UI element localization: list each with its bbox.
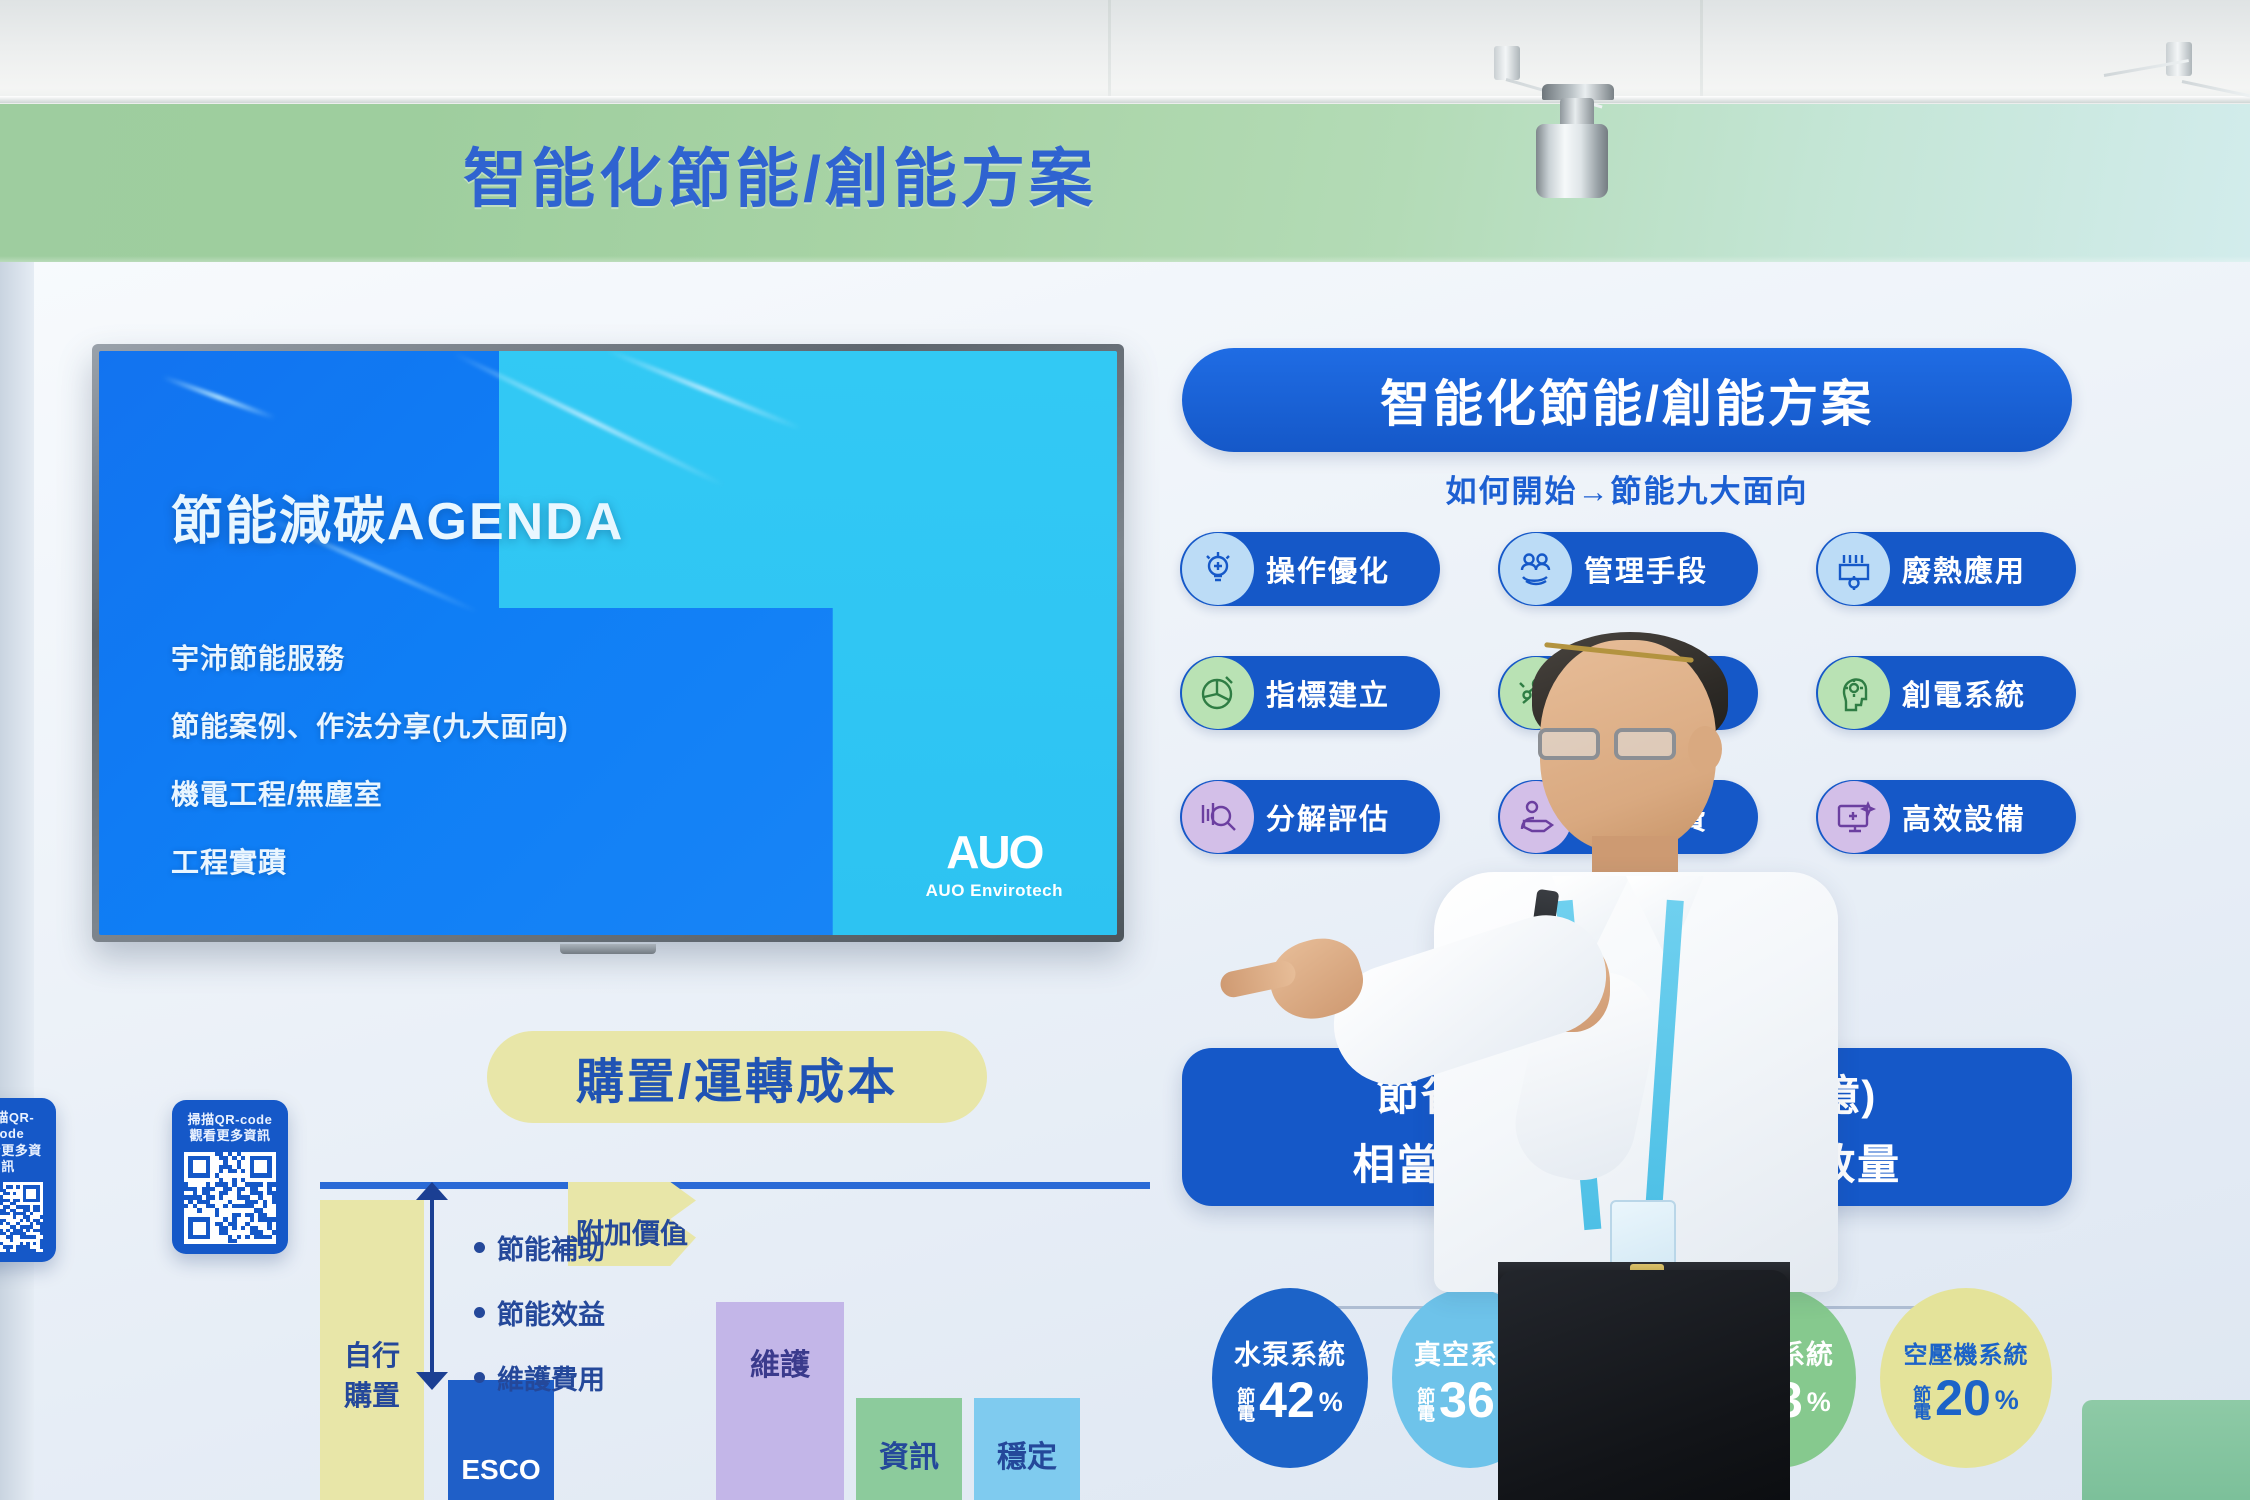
spotlight-arm xyxy=(1494,46,1520,80)
tv-display: 節能減碳AGENDA 宇沛節能服務 節能案例、作法分享(九大面向) 機電工程/無… xyxy=(92,344,1124,942)
qr-card[interactable]: 掃描QR-code觀看更多資訊 xyxy=(0,1098,56,1262)
aspect-chip-2[interactable]: 管理手段 xyxy=(1498,532,1758,606)
cost-panel-title: 購置/運轉成本 xyxy=(487,1031,987,1123)
aspect-chip-label: 廢熱應用 xyxy=(1902,548,2026,590)
exhibition-scene: 智能化節能/創能方案 節能減碳AGENDA 宇沛節能服務 節能案例、作法分享(九… xyxy=(0,0,2250,1500)
slide-bullet: 節能案例、作法分享(九大面向) xyxy=(171,705,569,745)
chart-bullet-list: 節能補助 節能效益 維護費用 xyxy=(474,1228,605,1397)
chart-bar-label: 穩定 xyxy=(974,1440,1080,1476)
ceiling-seam xyxy=(0,96,2250,103)
slide-bullet-list: 宇沛節能服務 節能案例、作法分享(九大面向) 機電工程/無塵室 工程實蹟 xyxy=(171,637,569,881)
chart-bullet: 節能補助 xyxy=(474,1228,605,1267)
bubble-prefix-label: 節電 xyxy=(1913,1387,1931,1421)
slide-title: 節能減碳AGENDA xyxy=(171,479,624,554)
spotlight-head xyxy=(1536,124,1608,198)
factory-icon xyxy=(1818,533,1890,605)
cost-comparison-chart: 自行購置 ESCO 附加價值 維護 資訊 穩定 節能補助 節能效益 維護費用 xyxy=(320,1182,1150,1500)
chart-bar-stability: 穩定 xyxy=(974,1398,1080,1500)
chart-bar-information: 資訊 xyxy=(856,1398,962,1500)
qr-code-image xyxy=(0,1182,43,1252)
aspect-chip-label: 分解評估 xyxy=(1266,796,1390,838)
people-hand-icon xyxy=(1500,533,1572,605)
chart-bar-maintenance: 維護 xyxy=(716,1302,844,1500)
chart-bar-label: 自行購置 xyxy=(320,1334,424,1414)
presenter-person xyxy=(1420,640,1850,1500)
bubble-system-name: 空壓機系統 xyxy=(1904,1335,2029,1370)
qr-code-image xyxy=(184,1152,276,1244)
chart-bullet: 節能效益 xyxy=(474,1293,605,1332)
presenter-glasses xyxy=(1538,728,1688,762)
slide-bullet: 宇沛節能服務 xyxy=(171,637,569,677)
pie-chart-icon xyxy=(1182,657,1254,729)
green-display-block xyxy=(2082,1400,2250,1500)
bubble-percent-value: 20 xyxy=(1935,1376,1991,1421)
auo-logo-subtitle: AUO Envirotech xyxy=(926,881,1063,901)
chart-bar-label: ESCO xyxy=(448,1454,554,1486)
slide-bullet: 工程實蹟 xyxy=(171,841,569,881)
aspect-chip-label: 高效設備 xyxy=(1902,796,2026,838)
aspect-chip-label: 指標建立 xyxy=(1266,672,1390,714)
chart-arrow-head-up xyxy=(416,1182,448,1200)
chart-savings-arrow-line xyxy=(430,1192,434,1384)
qr-card-label: 掃描QR-code觀看更多資訊 xyxy=(0,1110,46,1175)
bubble-prefix-label: 節電 xyxy=(1237,1389,1255,1423)
bubble-percent-sign: % xyxy=(1995,1385,2019,1416)
qr-card[interactable]: 掃描QR-code觀看更多資訊 xyxy=(172,1100,288,1254)
qr-card-label: 掃描QR-code觀看更多資訊 xyxy=(182,1112,278,1145)
bubble-system-name: 水泵系統 xyxy=(1234,1333,1346,1372)
aspect-chip-label: 操作優化 xyxy=(1266,548,1390,590)
wall-left-edge xyxy=(0,262,34,1500)
ceiling-panel-seam xyxy=(1108,0,1111,98)
aspect-chip-4[interactable]: 指標建立 xyxy=(1180,656,1440,730)
chart-bar-label: 資訊 xyxy=(856,1440,962,1476)
poster-title-pill: 智能化節能/創能方案 xyxy=(1182,348,2072,452)
auo-logo: AUO AUO Envirotech xyxy=(926,825,1063,901)
wall-banner-title: 智能化節能/創能方案 xyxy=(0,128,1560,220)
poster-subtitle: 如何開始→節能九大面向 xyxy=(1182,466,2072,511)
aspect-chip-3[interactable]: 廢熱應用 xyxy=(1816,532,2076,606)
bubble-value-row: 節電20% xyxy=(1913,1376,2019,1421)
aspect-chip-6[interactable]: 創電系統 xyxy=(1816,656,2076,730)
aspect-chip-1[interactable]: 操作優化 xyxy=(1180,532,1440,606)
bubble-percent-value: 42 xyxy=(1259,1378,1315,1423)
tv-stand xyxy=(560,944,656,954)
savings-bubble-4: 空壓機系統節電20% xyxy=(1880,1288,2052,1468)
glasses-lens-right xyxy=(1614,728,1676,760)
aspect-chip-label: 管理手段 xyxy=(1584,548,1708,590)
lightbulb-icon xyxy=(1182,533,1254,605)
presenter-ear xyxy=(1688,726,1722,772)
chart-bar-self-purchase: 自行購置 xyxy=(320,1200,424,1500)
chart-bar-label: 維護 xyxy=(716,1348,844,1384)
aspect-chip-9[interactable]: 高效設備 xyxy=(1816,780,2076,854)
aspect-chip-label: 創電系統 xyxy=(1902,672,2026,714)
ceiling-panel-seam xyxy=(1700,0,1703,98)
chart-arrow-head-down xyxy=(416,1372,448,1390)
chart-bullet: 維護費用 xyxy=(474,1358,605,1397)
slide-bullet: 機電工程/無塵室 xyxy=(171,773,569,813)
savings-bubble-1: 水泵系統節電42% xyxy=(1212,1288,1368,1468)
slide-streak xyxy=(162,375,276,421)
tv-screen: 節能減碳AGENDA 宇沛節能服務 節能案例、作法分享(九大面向) 機電工程/無… xyxy=(99,351,1117,935)
glasses-lens-left xyxy=(1538,728,1600,760)
bubble-value-row: 節電42% xyxy=(1237,1378,1343,1423)
presenter-trousers xyxy=(1498,1270,1790,1500)
magnifier-icon xyxy=(1182,781,1254,853)
auo-logo-mark: AUO xyxy=(926,825,1063,879)
chart-bar-esco: ESCO xyxy=(448,1380,554,1500)
bubble-percent-sign: % xyxy=(1319,1387,1343,1418)
aspect-chip-7[interactable]: 分解評估 xyxy=(1180,780,1440,854)
